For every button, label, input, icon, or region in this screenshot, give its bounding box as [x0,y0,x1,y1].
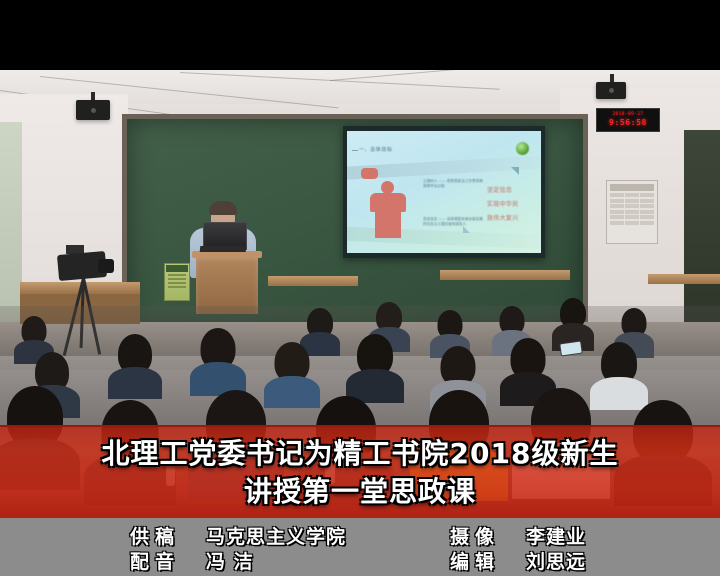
slide-keyword-3: 族伟大复兴 [487,213,519,222]
notice-cell [640,204,654,208]
presenter-hair [209,201,237,215]
notice-cell [640,193,654,197]
credits-bar: 供稿 马克思主义学院 配音 冯 洁 摄像 李建业 编辑 刘思远 [0,518,720,576]
slide-triangle-top-right [511,167,519,175]
notice-cell [640,199,654,203]
wall-notice-board [606,180,658,244]
notice-board-header [610,184,654,191]
credit-label-bianji: 编辑 [450,547,526,574]
wall-speaker-right [596,82,626,99]
sign-line [168,286,186,288]
credit-row: 编辑 刘思远 [450,547,586,572]
letterbox-top [0,0,720,70]
audience-person [190,328,246,394]
projection-screen: 一、总体目标 立德树人 —— 把思想政治工作贯穿教育教学全过程 坚定信念 —— … [343,126,545,258]
credit-value-bianji: 刘思远 [526,547,586,574]
credits-column-left: 供稿 马克思主义学院 配音 冯 洁 [130,522,346,572]
credit-row: 配音 冯 洁 [130,547,346,572]
slide-speaker-illustration [367,176,411,242]
notice-cell [625,199,639,203]
notice-cell [640,215,654,219]
notice-cell [610,204,624,208]
front-desk-right [440,270,570,280]
notice-cell [625,221,639,225]
notice-cell [625,215,639,219]
slide-keyword-1: 坚定信念 [487,185,512,194]
notice-board-grid [610,193,654,225]
left-door [0,122,22,322]
notice-cell [610,215,624,219]
laptop-keyboard [200,246,247,252]
notice-cell [610,199,624,203]
credit-value-shexiang: 李建业 [526,522,586,549]
audience-person [346,334,404,400]
notice-cell [640,210,654,214]
slide-speech-bubble-icon [361,168,378,179]
notice-cell [640,221,654,225]
slide-figure-lectern [375,212,401,238]
credit-value-peiyin: 冯 洁 [206,547,254,574]
credit-label-shexiang: 摄像 [450,522,526,549]
wall-speaker-left [76,100,110,120]
slide-triangle-bottom-left [463,226,470,233]
lectern-top [192,251,262,258]
credit-label-peiyin: 配音 [130,547,206,574]
slide-body-text-1: 立德树人 —— 把思想政治工作贯穿教育教学全过程 [423,179,485,189]
slide-body-text-2: 坚定信念 —— 培养德智体美全面发展的社会主义建设者和接班人 [423,217,485,227]
sign-line [168,274,186,276]
front-desk-center [268,276,358,286]
safety-notice-sign [164,263,190,301]
led-clock-date: 2018-09-27 [597,109,659,118]
banner-title-line-1: 北理工党委书记为精工书院2018级新生 [0,427,720,469]
credit-label-gonggao: 供稿 [130,522,206,549]
led-clock-display: 2018-09-27 9:56:58 [596,108,660,132]
notice-cell [610,221,624,225]
notice-cell [610,210,624,214]
right-door [684,130,720,335]
notice-cell [625,204,639,208]
slide-header: 一、总体目标 [359,146,393,153]
sign-line [168,282,186,284]
lower-third-title-banner: 北理工党委书记为精工书院2018级新生 讲授第一堂思政课 [0,425,720,520]
banner-title-line-2: 讲授第一堂思政课 [0,469,720,507]
video-player-stage: 一、总体目标 立德树人 —— 把思想政治工作贯穿教育教学全过程 坚定信念 —— … [0,0,720,576]
sign-header-bar [166,265,188,272]
front-desk-far-right [648,274,720,284]
presentation-slide: 一、总体目标 立德树人 —— 把思想政治工作贯穿教育教学全过程 坚定信念 —— … [347,131,541,253]
slide-keyword-2: 实现中华民 [487,199,519,208]
slide-title-dash [352,150,358,151]
camera-lens [98,259,114,273]
credit-row: 供稿 马克思主义学院 [130,522,346,547]
credit-value-gonggao: 马克思主义学院 [206,522,346,549]
slide-figure-body [370,193,406,212]
notice-cell [610,193,624,197]
credit-row: 摄像 李建业 [450,522,586,547]
notice-cell [625,210,639,214]
led-clock-time: 9:56:58 [597,118,659,128]
credits-column-right: 摄像 李建业 编辑 刘思远 [450,522,586,572]
notice-cell [625,193,639,197]
audience-person [108,334,162,396]
university-emblem-icon [516,142,529,155]
sign-line [168,278,186,280]
